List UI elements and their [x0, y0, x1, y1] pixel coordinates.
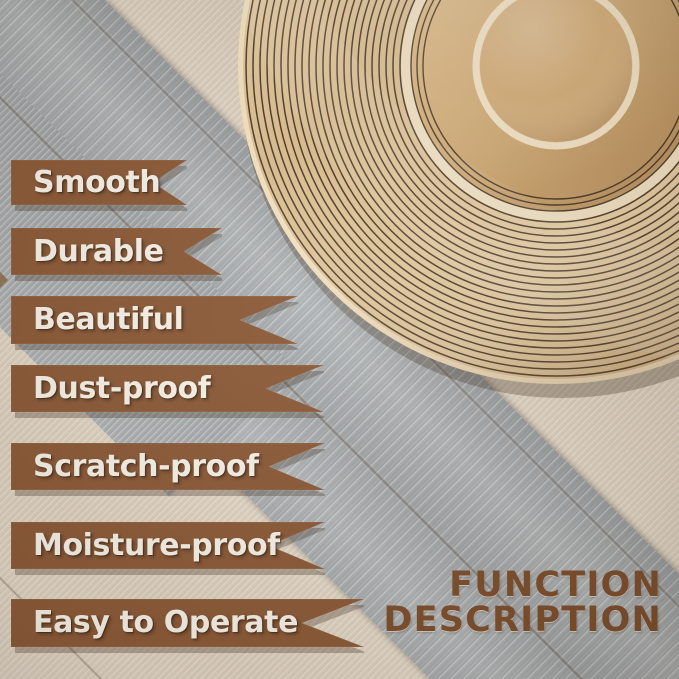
- product-banner-image: Smooth Durable Beautiful: [0, 0, 679, 679]
- ribbon-shape: [11, 443, 325, 498]
- feature-ribbon: Durable: [11, 228, 222, 275]
- ribbon-shape: [11, 522, 325, 577]
- feature-ribbon: Scratch-proof: [11, 443, 325, 490]
- ribbon-shape: [11, 228, 222, 283]
- feature-ribbon: Easy to Operate: [11, 599, 364, 647]
- ribbon-shape: [11, 296, 298, 352]
- feature-ribbon-list: Smooth Durable Beautiful: [0, 0, 679, 679]
- ribbon-shape: [11, 365, 324, 420]
- feature-ribbon: Dust-proof: [11, 365, 324, 412]
- ribbon-shape: [11, 160, 187, 213]
- feature-ribbon: Smooth: [11, 160, 187, 205]
- feature-ribbon: Moisture-proof: [11, 522, 325, 569]
- ribbon-shape: [11, 599, 364, 655]
- feature-ribbon: Beautiful: [11, 296, 298, 344]
